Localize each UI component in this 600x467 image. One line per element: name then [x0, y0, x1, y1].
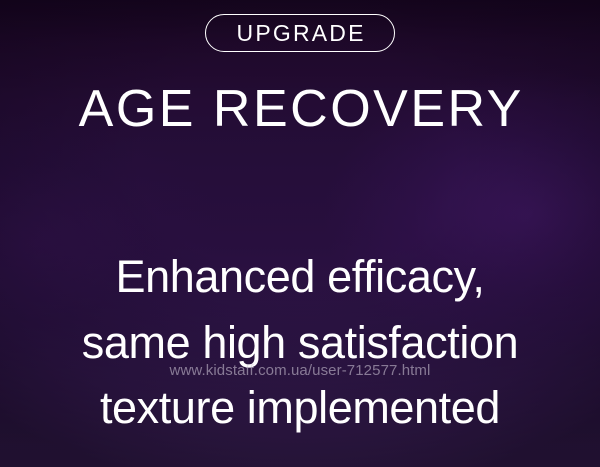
upgrade-badge-label: UPGRADE	[234, 22, 365, 45]
message-line-3: texture implemented	[0, 375, 600, 441]
page-title: AGE RECOVERY	[0, 82, 600, 137]
poster-content: UPGRADE AGE RECOVERY Enhanced efficacy, …	[0, 0, 600, 467]
message-block: Enhanced efficacy, same high satisfactio…	[0, 244, 600, 441]
message-line-1: Enhanced efficacy,	[0, 244, 600, 310]
promo-poster: UPGRADE AGE RECOVERY Enhanced efficacy, …	[0, 0, 600, 467]
badge-row: UPGRADE	[0, 14, 600, 52]
watermark-url: www.kidstaff.com.ua/user-712577.html	[0, 362, 600, 380]
upgrade-badge: UPGRADE	[205, 14, 395, 52]
